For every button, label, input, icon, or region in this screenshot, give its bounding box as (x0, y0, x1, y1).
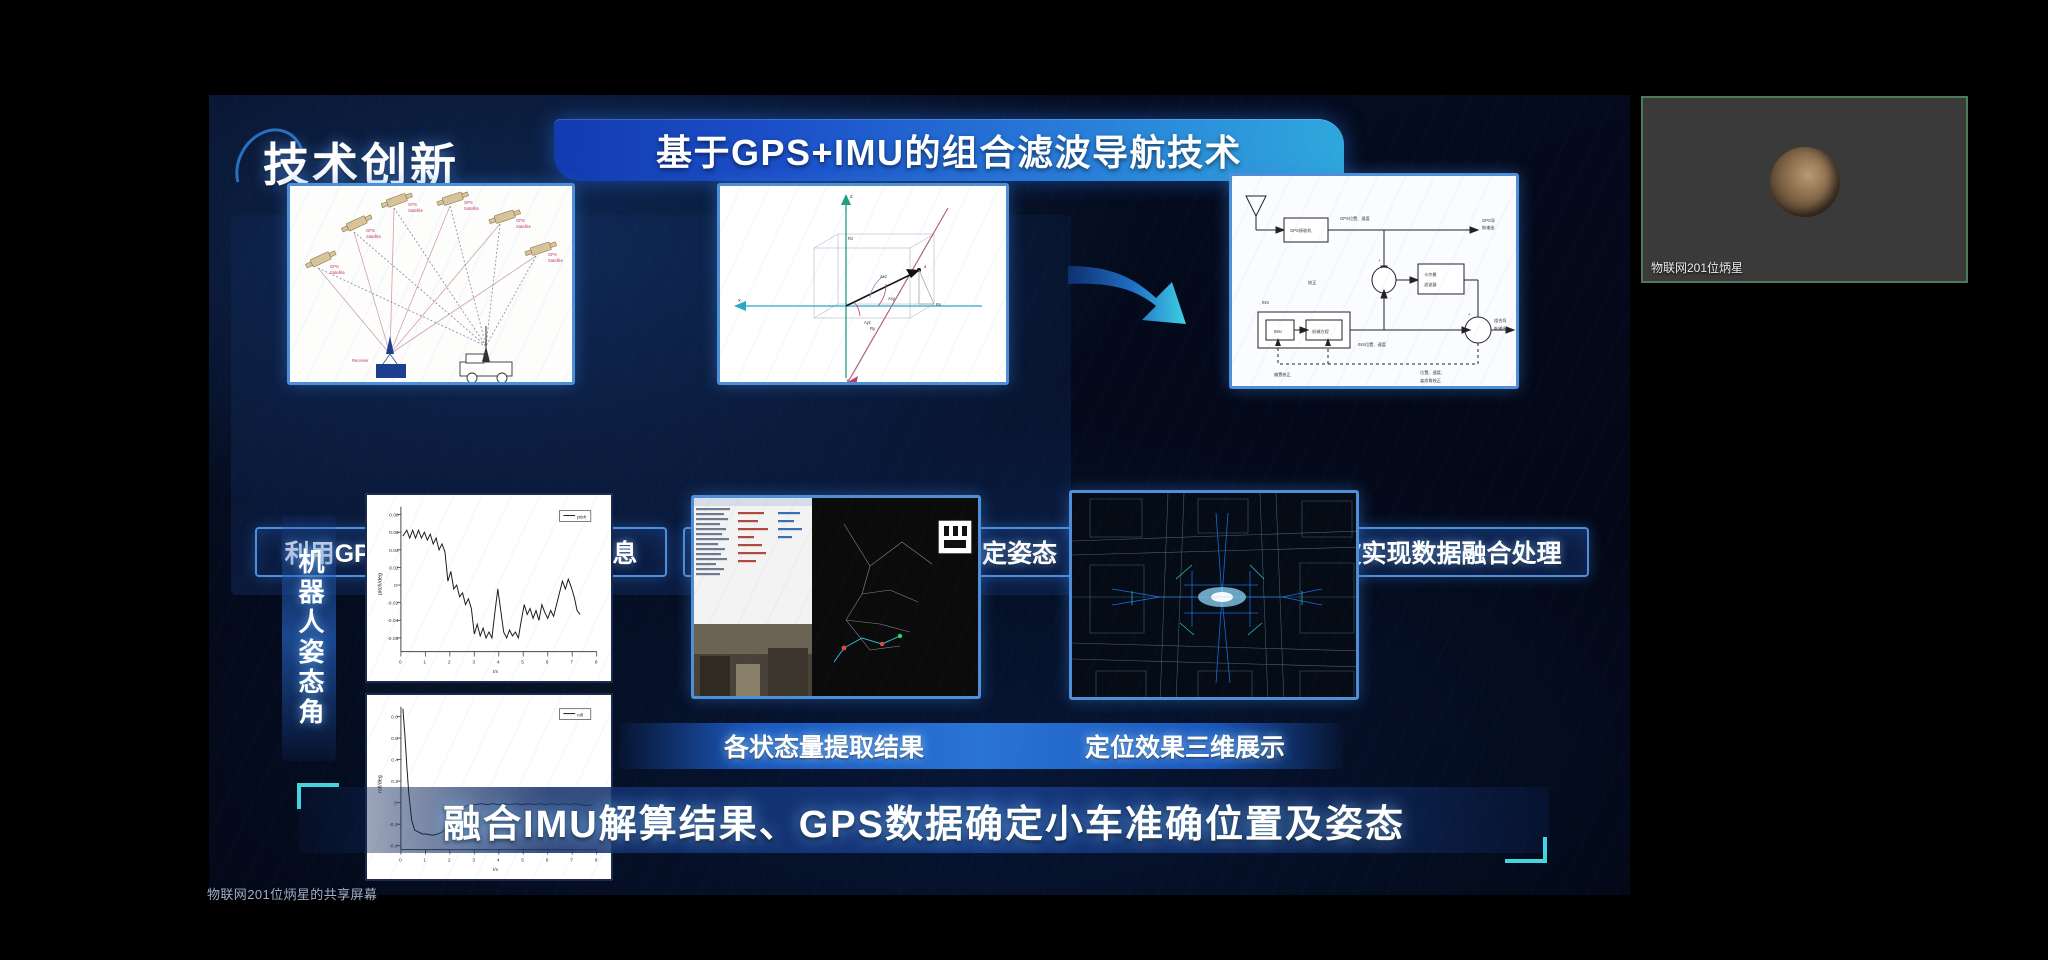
svg-text:Z: Z (850, 194, 853, 199)
svg-text:Rx: Rx (936, 302, 942, 307)
svg-text:INS位置、速度: INS位置、速度 (1358, 341, 1387, 348)
svg-text:航输出: 航输出 (1494, 325, 1507, 332)
svg-text:Satellite: Satellite (366, 234, 382, 239)
kalman-block-diagram: GPS接收机 GPS位置、速度 GPS导 航输出 校正 INS IMU 机械方程… (1229, 173, 1519, 389)
svg-text:roll: roll (577, 713, 583, 718)
svg-text:0: 0 (399, 659, 402, 665)
svg-text:6: 6 (546, 857, 549, 863)
svg-text:5: 5 (521, 659, 524, 665)
svg-text:0.4: 0.4 (391, 758, 398, 764)
webcam-tile[interactable]: 物联网201位炳星 (1641, 96, 1968, 283)
svg-text:校正: 校正 (1308, 279, 1316, 286)
svg-text:3: 3 (472, 857, 475, 863)
svg-text:Rz: Rz (848, 236, 853, 241)
svg-text:姿态角校正: 姿态角校正 (1420, 377, 1441, 384)
svg-text:4: 4 (497, 857, 500, 863)
svg-text:Satellite: Satellite (408, 208, 424, 213)
svg-text:-0.04: -0.04 (387, 618, 398, 624)
svg-text:Ayz: Ayz (864, 320, 871, 325)
svg-text:6: 6 (546, 659, 549, 665)
svg-text:GPS: GPS (330, 264, 339, 269)
svg-text:8: 8 (595, 659, 598, 665)
slide-title-banner: 基于GPS+IMU的组合滤波导航技术 (554, 119, 1344, 181)
svg-text:8: 8 (595, 857, 598, 863)
svg-text:0.06: 0.06 (389, 530, 399, 536)
localization-3d-map (1069, 490, 1359, 700)
svg-text:偏置校正: 偏置校正 (1274, 371, 1291, 378)
svg-text:GPS: GPS (464, 200, 473, 205)
participant-avatar (1770, 147, 1840, 217)
svg-text:INS: INS (1262, 300, 1269, 305)
svg-text:0.08: 0.08 (389, 513, 399, 519)
svg-text:GPS: GPS (408, 202, 417, 207)
svg-text:航输出: 航输出 (1482, 224, 1495, 231)
svg-text:GPS导: GPS导 (1482, 218, 1495, 223)
share-watermark: 物联网201位炳星的共享屏幕 (207, 884, 377, 903)
svg-text:位置、速度、: 位置、速度、 (1420, 369, 1445, 376)
svg-text:2: 2 (448, 857, 451, 863)
svg-text:组合导: 组合导 (1494, 317, 1507, 324)
svg-text:Satellite: Satellite (516, 224, 532, 229)
svg-text:0.6: 0.6 (391, 736, 398, 742)
svg-text:0.2: 0.2 (391, 779, 398, 785)
svg-text:GPS: GPS (548, 252, 557, 257)
svg-text:pitch/deg: pitch/deg (377, 573, 383, 595)
svg-text:pitch: pitch (577, 514, 587, 519)
svg-text:Satellite: Satellite (330, 270, 346, 275)
svg-text:0.04: 0.04 (389, 548, 399, 554)
flow-arrow-icon (1064, 250, 1204, 340)
svg-text:t/s: t/s (493, 669, 499, 675)
svg-text:2: 2 (448, 659, 451, 665)
participant-name-label: 物联网201位炳星 (1651, 259, 1743, 276)
svg-text:5: 5 (521, 857, 524, 863)
svg-text:X: X (738, 298, 741, 303)
pitch-angle-chart: 0.080.06 0.040.02 0-0.02 -0.04-0.06 012 … (365, 493, 613, 683)
footer-banner-text: 融合IMU解算结果、GPS数据确定小车准确位置及姿态 (443, 793, 1405, 848)
footer-corner-bottom-right (1505, 837, 1547, 863)
screen-root: 技术创新 基于GPS+IMU的组合滤波导航技术 (0, 0, 2048, 960)
presentation-slide: 技术创新 基于GPS+IMU的组合滤波导航技术 (209, 95, 1630, 895)
svg-text:1: 1 (423, 857, 426, 863)
svg-text:7: 7 (570, 659, 573, 665)
svg-text:GPS位置、速度: GPS位置、速度 (1340, 215, 1371, 222)
svg-text:0.8: 0.8 (391, 714, 398, 720)
footer-corner-top-left (297, 783, 339, 809)
svg-text:Y: Y (846, 378, 849, 383)
svg-text:GPS: GPS (366, 228, 375, 233)
vertical-label-robot-attitude: 机器人姿态角 (282, 515, 336, 761)
svg-text:3: 3 (472, 659, 475, 665)
svg-text:IMU: IMU (1274, 329, 1282, 334)
svg-text:GPS: GPS (516, 218, 525, 223)
caption-state-extraction-text: 各状态量提取结果 (724, 728, 924, 764)
svg-text:Axz: Axz (880, 274, 887, 279)
svg-text:Satellite: Satellite (548, 258, 564, 263)
svg-text:机械方程: 机械方程 (1312, 328, 1330, 335)
svg-text:-0.02: -0.02 (387, 601, 398, 607)
svg-text:4: 4 (497, 659, 500, 665)
svg-text:Receiver: Receiver (352, 358, 369, 363)
svg-text:7: 7 (570, 857, 573, 863)
svg-text:卡尔曼: 卡尔曼 (1424, 271, 1437, 278)
svg-text:Ry: Ry (870, 326, 876, 331)
attitude-axes-diagram: Z X Y Rz Rx Ry Axz Axy Ayz a (717, 183, 1009, 385)
state-extraction-screenshot (691, 495, 981, 699)
svg-text:0: 0 (399, 857, 402, 863)
svg-text:Axy: Axy (888, 296, 896, 301)
slide-title-text: 基于GPS+IMU的组合滤波导航技术 (656, 124, 1242, 176)
svg-text:GPS接收机: GPS接收机 (1290, 227, 1312, 234)
svg-text:-0.06: -0.06 (387, 636, 398, 642)
svg-text:1: 1 (423, 659, 426, 665)
footer-banner: 融合IMU解算结果、GPS数据确定小车准确位置及姿态 (299, 787, 1549, 853)
caption-state-extraction: 各状态量提取结果 (724, 727, 924, 765)
vertical-label-text: 机器人姿态角 (293, 548, 325, 728)
caption-localization-3d-text: 定位效果三维展示 (1085, 728, 1285, 764)
gps-satellites-diagram: GPSSatellite GPSSatellite GPSSatellite G… (287, 183, 575, 385)
svg-text:滤波器: 滤波器 (1424, 281, 1437, 288)
svg-text:Satellite: Satellite (464, 206, 480, 211)
svg-text:0.02: 0.02 (389, 565, 399, 571)
svg-text:0: 0 (394, 583, 397, 589)
caption-localization-3d: 定位效果三维展示 (1085, 727, 1285, 765)
svg-text:t/s: t/s (493, 867, 499, 873)
